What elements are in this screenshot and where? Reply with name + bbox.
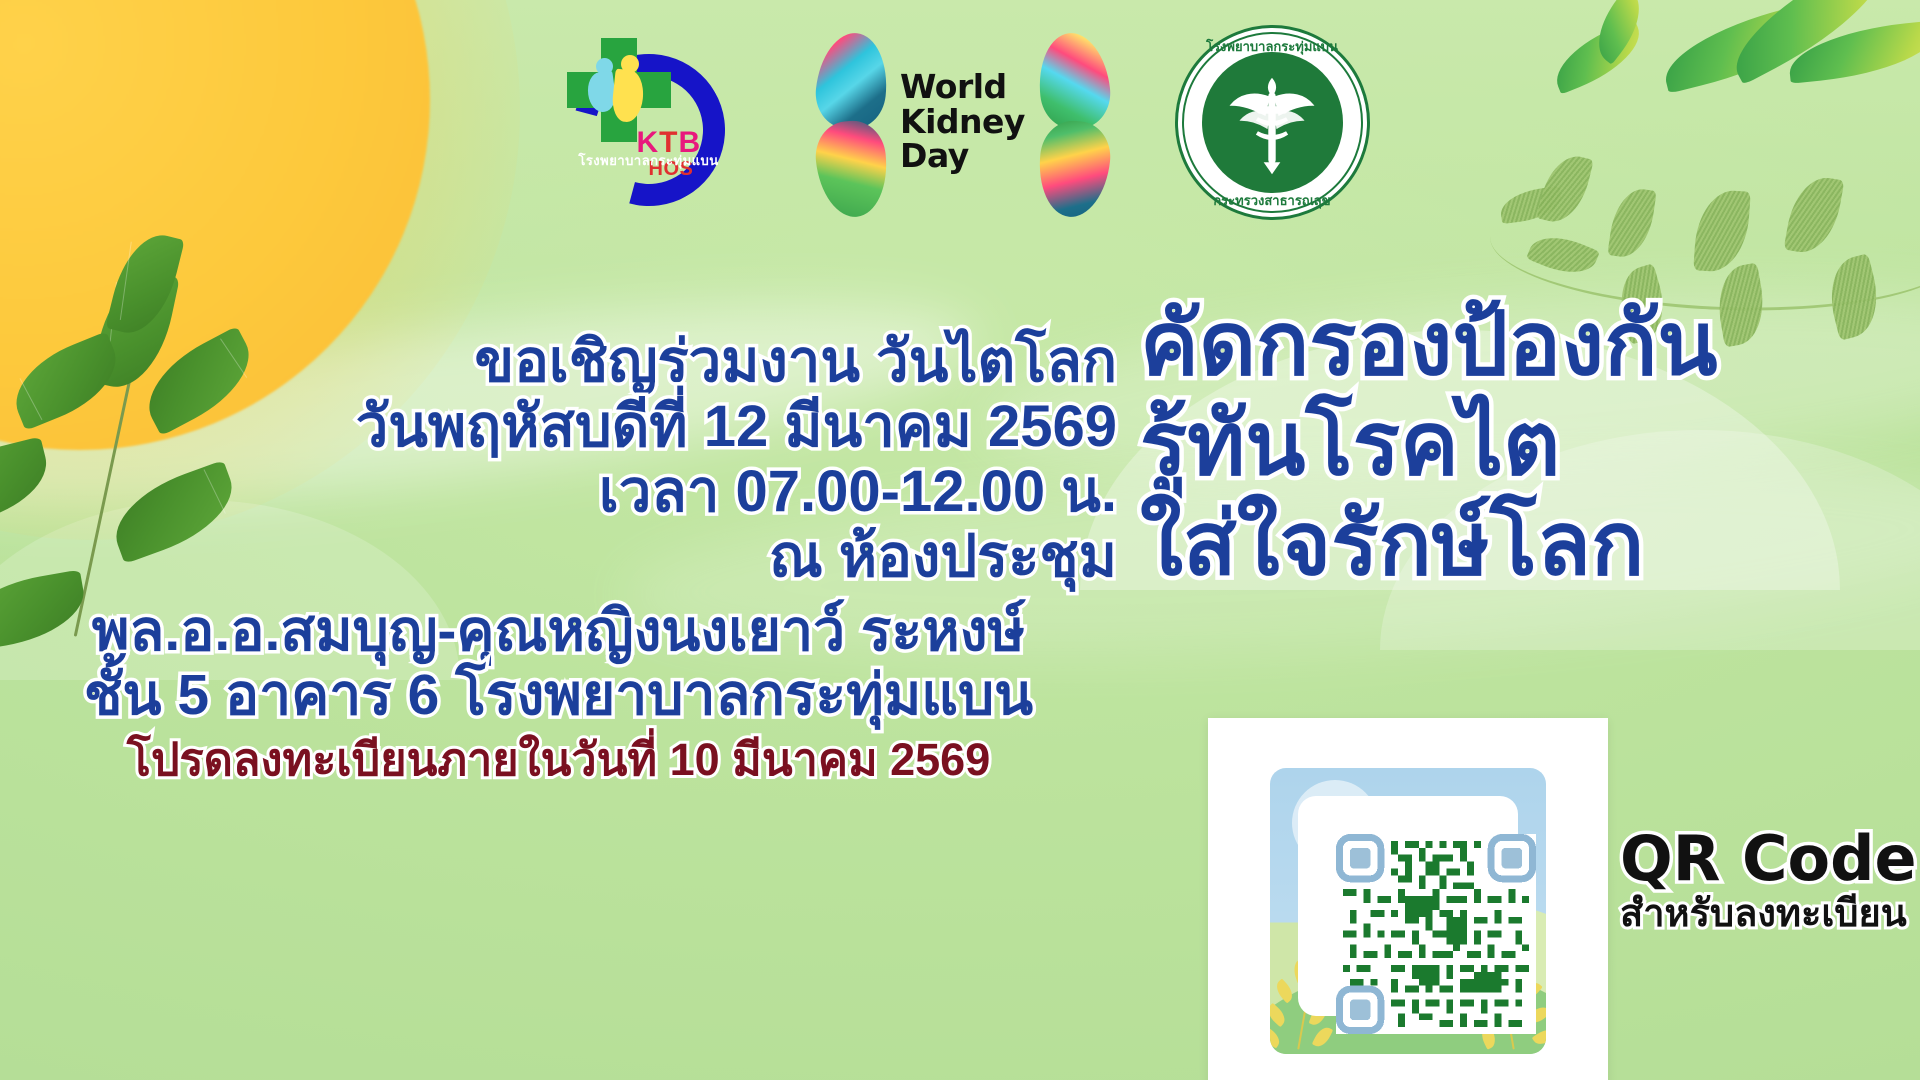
wkd-line-1: World <box>900 70 1025 105</box>
registration-deadline: โปรดลงทะเบียนภายในวันที่ 10 มีนาคม 2569 <box>0 735 1117 785</box>
ktb-arc-thai-text: โรงพยาบาลกระทุ่มแบน <box>569 150 729 210</box>
qr-illustration-background <box>1270 768 1546 1054</box>
invite-line-3: เวลา 07.00-12.00 น. <box>0 460 1117 525</box>
invite-line-4: ณ ห้องประชุม <box>0 525 1117 590</box>
caduceus-icon <box>1213 63 1331 181</box>
invite-line-2: วันพฤหัสบดีที่ 12 มีนาคม 2569 <box>0 395 1117 460</box>
qr-label-thai: สำหรับลงทะเบียน <box>1620 894 1920 936</box>
headline-line-3: ใส่ใจรักษ์โลก <box>1140 500 1920 588</box>
qr-code-plate <box>1298 796 1518 1016</box>
kidney-ribbon-right <box>1039 33 1109 213</box>
kidney-ribbon-left <box>817 33 887 213</box>
world-kidney-day-wordmark: World Kidney Day <box>900 70 1025 175</box>
invite-venue-name: พล.อ.อ.สมบุญ-คุณหญิงนงเยาว์ ระหงษ์ <box>0 600 1117 664</box>
registration-qr-card[interactable] <box>1208 718 1608 1080</box>
campaign-headline: คัดกรองป้องกัน รู้ทันโรคไต ใส่ใจรักษ์โลก <box>1140 300 1920 588</box>
invite-line-1: ขอเชิญร่วมงาน วันไตโลก <box>0 330 1117 395</box>
poster-canvas: KTB HOS โรงพยาบาลกระทุ่มแบน World Kidney… <box>0 0 1920 1080</box>
invite-venue-address: ชั้น 5 อาคาร 6 โรงพยาบาลกระทุ่มแบน <box>0 664 1117 728</box>
logo-row: KTB HOS โรงพยาบาลกระทุ่มแบน World Kidney… <box>0 22 1920 222</box>
headline-line-1: คัดกรองป้องกัน <box>1140 300 1920 388</box>
wkd-line-2: Kidney <box>900 105 1025 140</box>
headline-line-2: รู้ทันโรคไต <box>1140 400 1920 488</box>
qr-label-english: QR Code <box>1620 828 1920 890</box>
invitation-text-block: ขอเชิญร่วมงาน วันไตโลก วันพฤหัสบดีที่ 12… <box>0 330 1135 786</box>
wkd-line-3: Day <box>900 139 1025 174</box>
ministry-of-public-health-seal: โรงพยาบาลกระทุ่มแบน กระทรวงสาธารณสุข <box>1175 25 1370 220</box>
qr-label-block: QR Code สำหรับลงทะเบียน <box>1620 828 1920 936</box>
seal-bottom-text: กระทรวงสาธารณสุข <box>1175 190 1370 211</box>
ktb-hospital-logo: KTB HOS โรงพยาบาลกระทุ่มแบน <box>551 30 751 215</box>
world-kidney-day-logo: World Kidney Day <box>813 27 1113 217</box>
seal-top-text: โรงพยาบาลกระทุ่มแบน <box>1175 36 1370 57</box>
qr-code-icon[interactable] <box>1336 834 1536 1034</box>
